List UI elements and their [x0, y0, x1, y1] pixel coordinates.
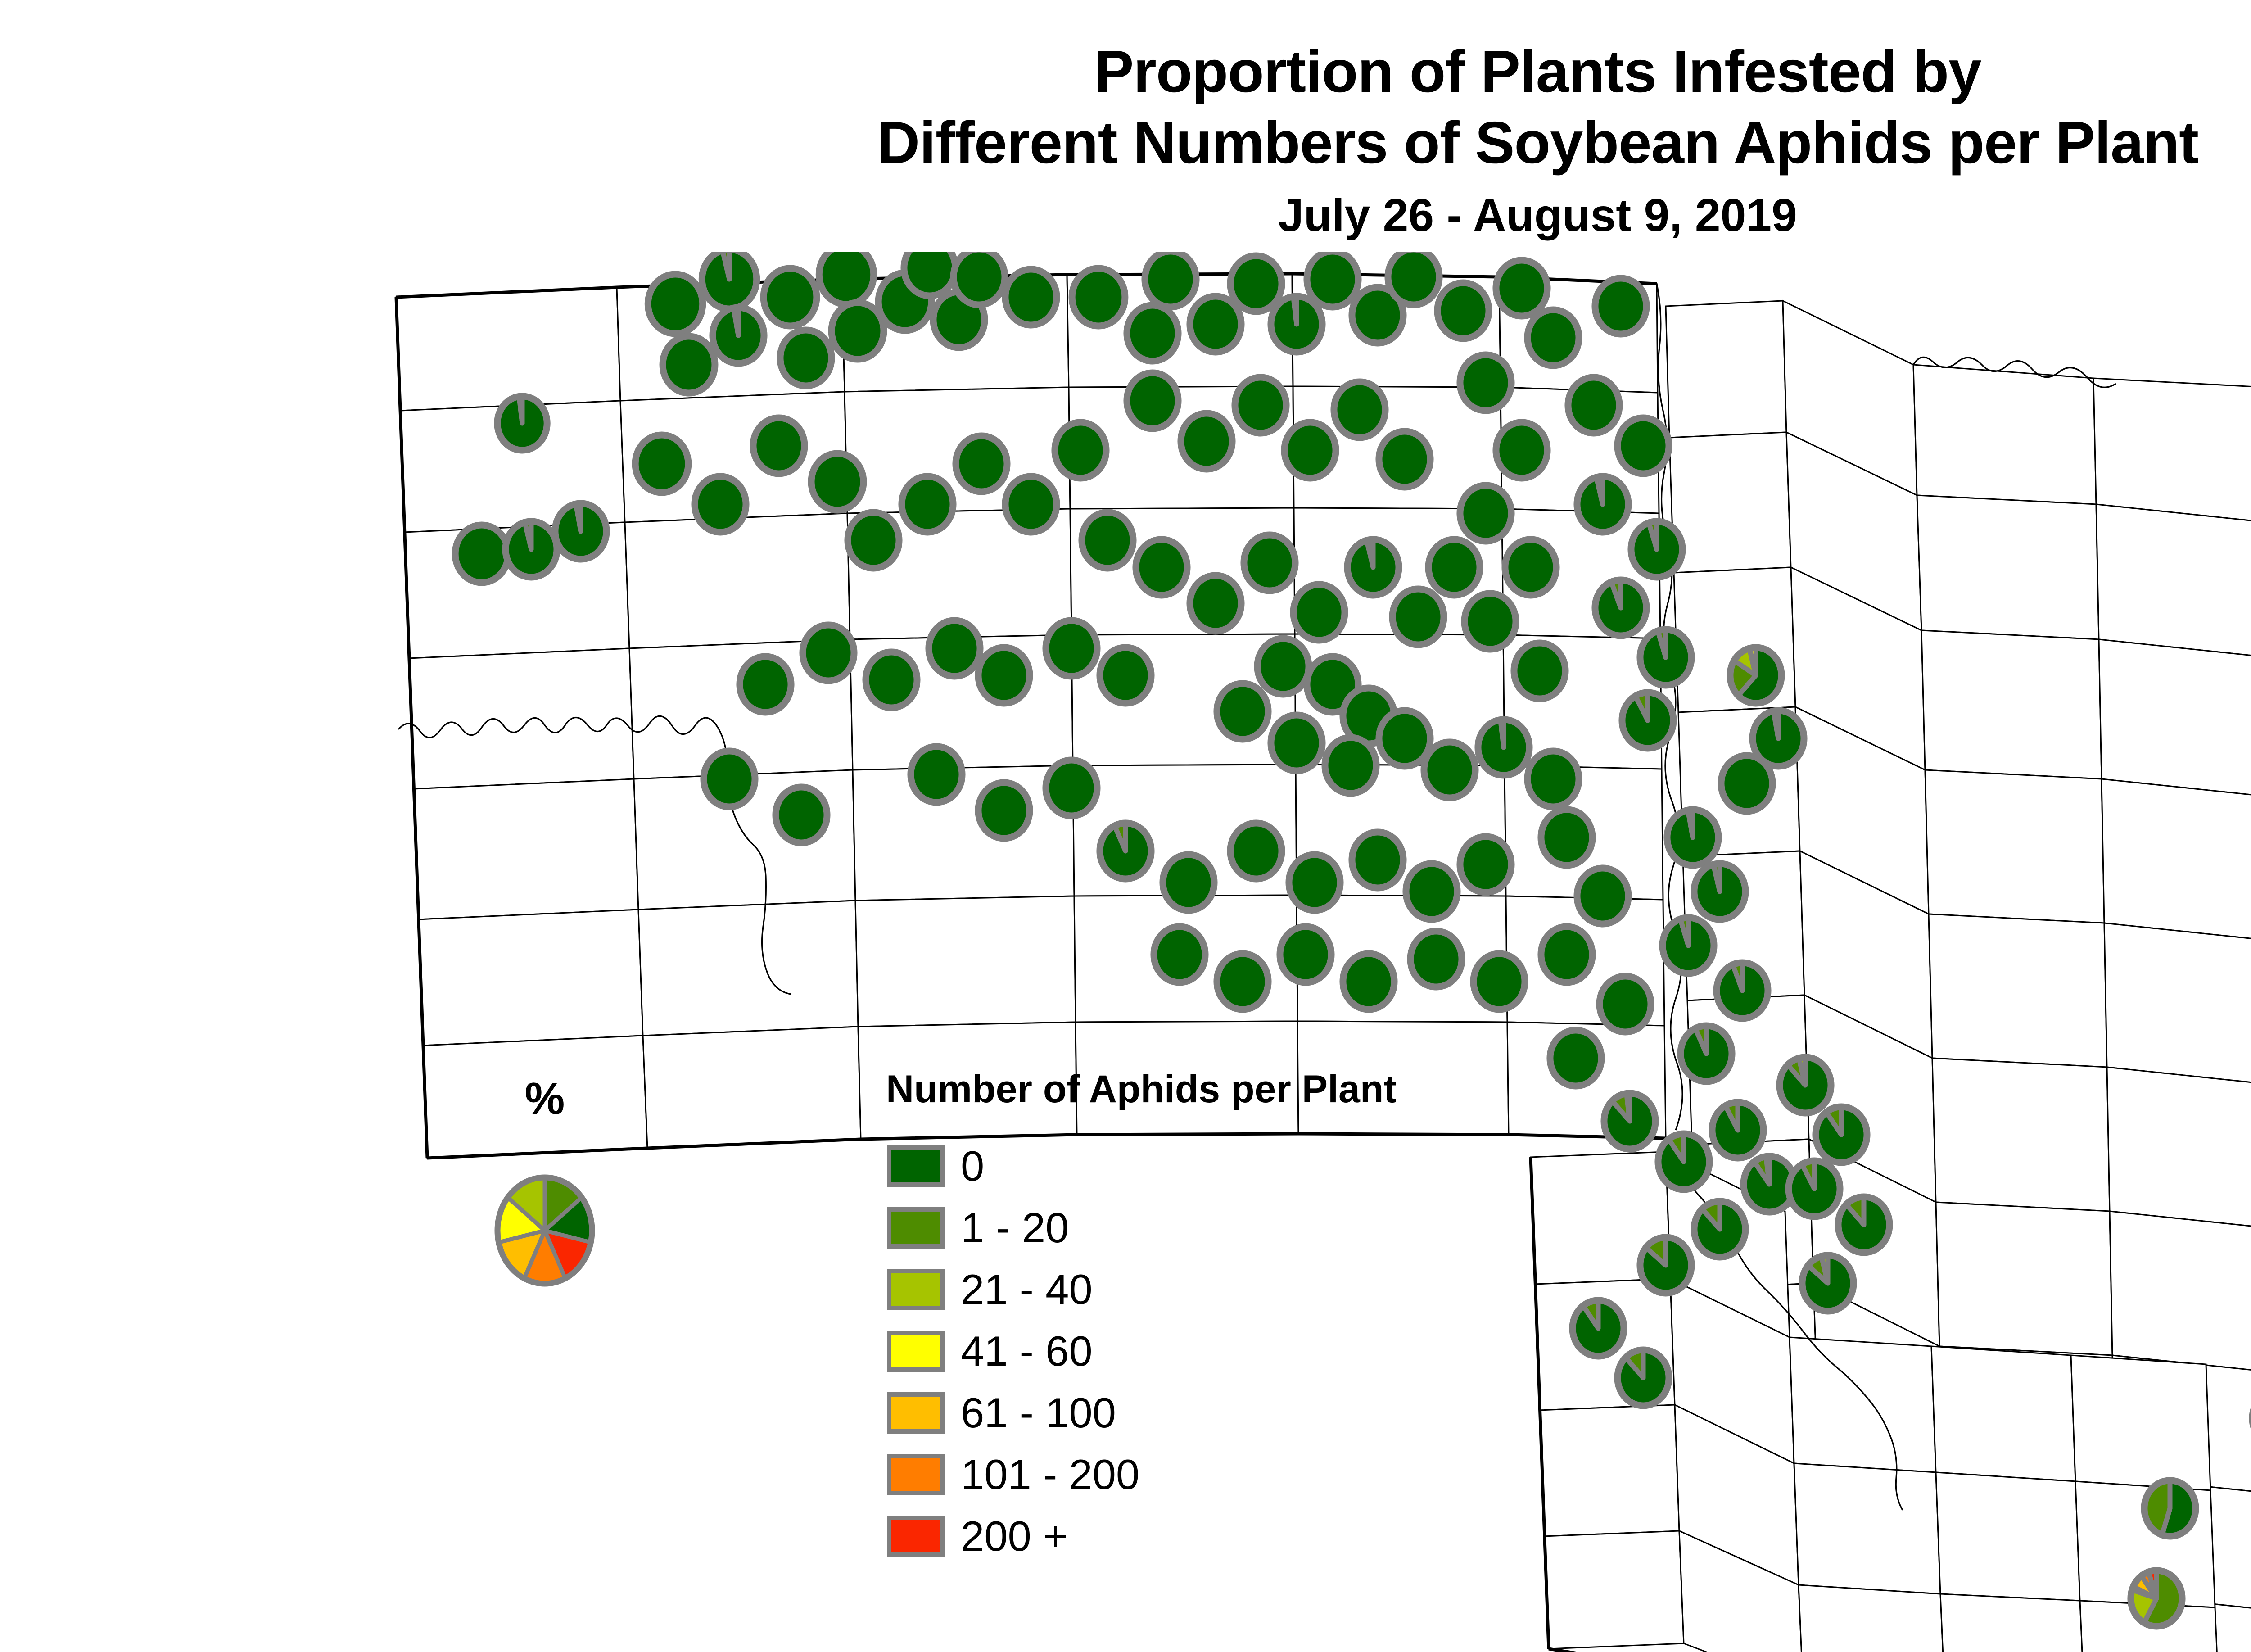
legend-item-label: 0 [961, 1145, 984, 1187]
pie-marker [2131, 1571, 2182, 1626]
pie-marker [1631, 521, 1682, 577]
pie-marker [1577, 476, 1628, 532]
pie-marker [702, 252, 756, 309]
pie-slice [519, 396, 522, 423]
legend-color-swatch [887, 1392, 945, 1434]
pie-marker [1789, 1161, 1840, 1217]
pie-marker [1428, 539, 1480, 595]
pie-marker [954, 252, 1005, 305]
pie-marker [1465, 593, 1516, 649]
pie-marker [1406, 864, 1457, 919]
pie-marker [803, 625, 854, 681]
pie-marker [1347, 539, 1399, 595]
pie-marker [1082, 512, 1133, 568]
legend-rows: 01 - 2021 - 4041 - 6061 - 100101 - 20020… [869, 1135, 1724, 1567]
pie-marker [1460, 837, 1511, 892]
legend-item: 0 [869, 1135, 1724, 1197]
legend-item: 21 - 40 [869, 1258, 1724, 1320]
pie-slice [1501, 720, 1504, 747]
pie-marker [695, 476, 746, 532]
pie-marker [1717, 963, 1768, 1018]
pie-marker [1257, 638, 1309, 694]
pie-marker [1271, 715, 1322, 771]
legend-item-label: 21 - 40 [961, 1268, 1093, 1311]
pie-marker [1541, 810, 1592, 865]
pie-slice [1766, 1156, 1769, 1184]
pie-marker [1496, 422, 1547, 478]
pie-marker [1802, 1255, 1853, 1311]
pie-marker [1460, 485, 1511, 541]
pie-marker [1230, 256, 1282, 312]
pie-marker [848, 512, 899, 568]
pie-marker [1568, 377, 1619, 433]
legend-heading: Number of Aphids per Plant [886, 1067, 1724, 1112]
pie-marker [1622, 692, 1673, 748]
title-line-2: Different Numbers of Soybean Aphids per … [0, 107, 2251, 178]
pie-marker [1100, 823, 1151, 879]
legend-block: Number of Aphids per Plant 01 - 2021 - 4… [869, 1067, 1724, 1567]
chart-title-block: Proportion of Plants Infested by Differe… [0, 36, 2251, 244]
percent-key-block: % [450, 1076, 639, 1289]
legend-color-swatch [887, 1207, 945, 1249]
pie-marker [902, 476, 953, 532]
pie-marker [832, 303, 884, 359]
pie-marker [740, 656, 791, 712]
legend-item: 200 + [869, 1505, 1724, 1567]
pie-marker [1410, 931, 1462, 987]
pie-marker [1816, 1107, 1867, 1163]
pie-marker [866, 652, 917, 708]
percent-symbol-label: % [450, 1076, 639, 1121]
pie-marker [1721, 756, 1772, 811]
pie-marker [1307, 252, 1358, 307]
pie-marker [1528, 310, 1579, 366]
pie-marker [1325, 738, 1376, 793]
pie-marker [1136, 539, 1187, 595]
pie-marker [1127, 305, 1178, 361]
legend-color-swatch [887, 1145, 945, 1187]
legend-item-label: 1 - 20 [961, 1207, 1069, 1249]
pie-marker [780, 330, 832, 386]
pie-marker [1334, 382, 1385, 438]
pie-marker [2144, 1480, 2196, 1536]
pie-marker [1663, 918, 1714, 973]
legend-item-label: 61 - 100 [961, 1392, 1116, 1434]
pie-marker [1293, 584, 1345, 640]
legend-item-label: 41 - 60 [961, 1330, 1093, 1372]
pie-marker [635, 435, 688, 493]
pie-marker [1217, 954, 1268, 1009]
pie-marker [1541, 927, 1592, 982]
pie-marker [1496, 260, 1547, 316]
pie-marker [1343, 954, 1394, 1009]
pie-marker [1478, 720, 1529, 775]
pie-marker [1424, 742, 1475, 798]
pie-marker [1154, 927, 1205, 982]
legend-color-swatch [887, 1516, 945, 1557]
pie-marker [1005, 269, 1057, 325]
legend-item: 41 - 60 [869, 1320, 1724, 1382]
pie-marker [1514, 643, 1565, 699]
pie-marker [1730, 647, 1781, 703]
pie-marker [1217, 683, 1268, 739]
pie-marker [1838, 1197, 1889, 1253]
legend-item: 101 - 200 [869, 1444, 1724, 1505]
pie-marker [1640, 629, 1691, 685]
pie-marker [978, 647, 1030, 703]
pie-marker [978, 783, 1030, 838]
legend-color-swatch [887, 1269, 945, 1310]
pie-marker [811, 453, 863, 510]
legend-color-swatch [887, 1454, 945, 1495]
pie-marker [1145, 252, 1196, 307]
pie-marker [713, 308, 764, 363]
pie-marker [1600, 976, 1651, 1032]
pie-marker [819, 252, 873, 304]
pie-marker [1100, 647, 1151, 703]
pie-marker [1595, 278, 1646, 334]
pie-marker [497, 396, 547, 450]
pie-marker [1005, 476, 1057, 532]
pie-marker [1163, 855, 1214, 910]
pie-marker [555, 503, 606, 559]
pie-marker [1235, 377, 1286, 433]
pie-marker [1595, 580, 1646, 636]
pie-marker [929, 620, 980, 676]
legend-item-label: 101 - 200 [961, 1453, 1139, 1496]
pie-marker [1244, 535, 1295, 591]
pie-marker [506, 521, 557, 577]
pie-marker [764, 268, 817, 326]
pie-marker [1379, 431, 1430, 487]
title-line-1: Proportion of Plants Infested by [0, 36, 2251, 107]
pie-marker [1437, 283, 1489, 339]
pie-marker [1271, 296, 1322, 352]
pie-marker [1388, 252, 1439, 305]
legend-color-swatch [887, 1331, 945, 1372]
pie-marker [1127, 373, 1178, 429]
pie-marker [455, 525, 508, 583]
pie-marker [904, 252, 955, 296]
pie-marker [1618, 418, 1669, 474]
pie-marker [776, 787, 827, 843]
pie-marker [1190, 575, 1241, 631]
pie-marker [1780, 1057, 1831, 1113]
legend-item: 1 - 20 [869, 1197, 1724, 1258]
pie-marker [1474, 954, 1525, 1009]
pie-marker [1667, 810, 1718, 865]
pie-marker [1046, 620, 1097, 676]
example-pie-icon [488, 1174, 601, 1287]
pie-marker [1694, 864, 1745, 919]
pie-marker [1055, 422, 1106, 478]
pie-marker [1072, 268, 1125, 326]
pie-marker [1280, 927, 1331, 982]
legend-item: 61 - 100 [869, 1382, 1724, 1444]
pie-marker [911, 747, 962, 802]
pie-marker [1230, 823, 1282, 879]
pie-marker [1392, 589, 1444, 645]
pie-slice [1293, 296, 1297, 324]
pie-marker [1046, 760, 1097, 816]
pie-slice [1371, 539, 1373, 567]
legend-item-label: 200 + [961, 1515, 1068, 1557]
date-range-subtitle: July 26 - August 9, 2019 [0, 187, 2251, 244]
pie-marker [1352, 832, 1403, 888]
pie-marker [1284, 422, 1336, 478]
pie-marker [648, 274, 702, 334]
pie-marker [1577, 868, 1628, 924]
pie-marker [1190, 296, 1241, 352]
pie-marker [1528, 751, 1579, 807]
pie-marker [753, 418, 805, 474]
pie-marker [1181, 413, 1232, 469]
pie-marker [1379, 711, 1430, 766]
pie-marker [704, 751, 755, 807]
pie-marker [1460, 355, 1511, 411]
pie-marker [956, 436, 1007, 492]
pie-marker [1289, 855, 1340, 910]
pie-marker [663, 336, 715, 393]
pie-marker [1505, 539, 1556, 595]
